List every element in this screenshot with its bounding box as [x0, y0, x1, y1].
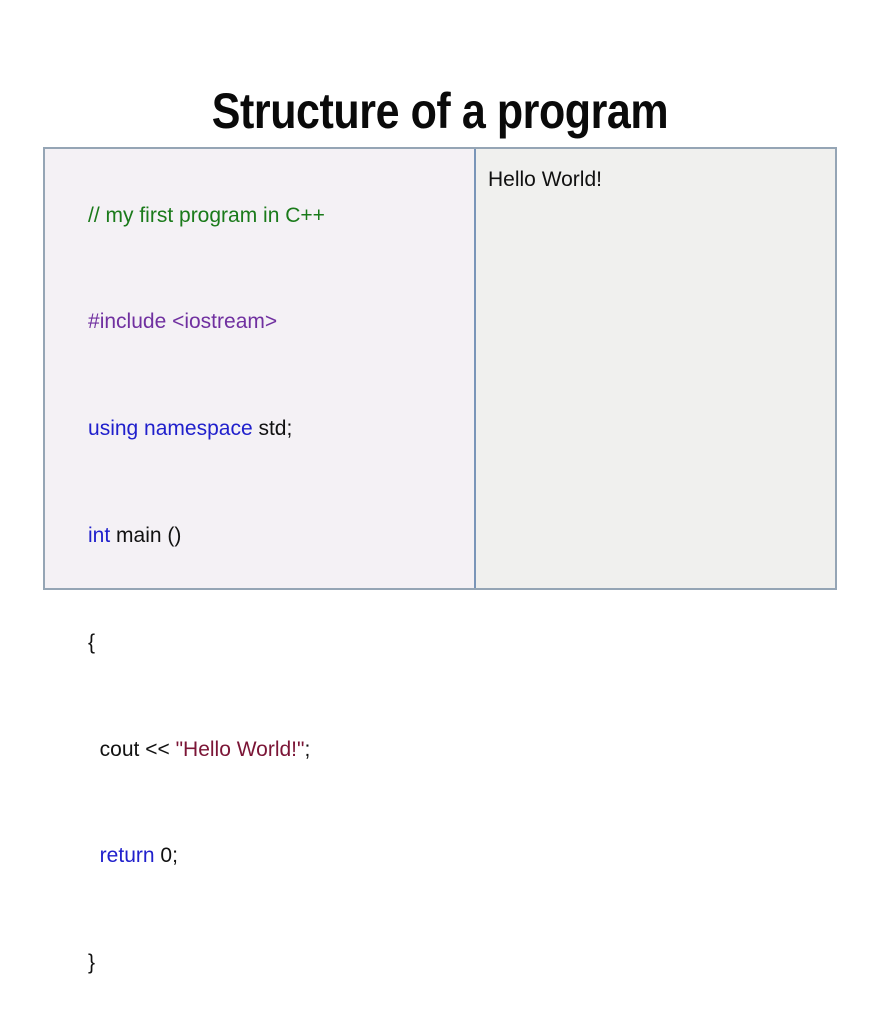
keyword-token: using namespace	[88, 417, 258, 440]
type-keyword-token: int	[88, 524, 116, 547]
output-line: Hello World!	[488, 162, 835, 198]
code-output-table: // my first program in C++ #include <ios…	[43, 147, 837, 590]
code-line-using: using namespace std;	[53, 376, 474, 483]
return-value-token: 0;	[160, 844, 178, 867]
function-name-token: main ()	[116, 524, 181, 547]
code-line-comment: // my first program in C++	[53, 162, 474, 269]
code-line-return: return 0;	[53, 803, 474, 910]
close-brace-token: }	[88, 951, 95, 974]
code-line-main: int main ()	[53, 482, 474, 589]
code-line-cout: cout << "Hello World!";	[53, 696, 474, 803]
page-title: Structure of a program	[62, 82, 819, 140]
code-line-open-brace: {	[53, 589, 474, 696]
string-literal-token: "Hello World!"	[176, 738, 305, 761]
cout-stream-token: cout <<	[88, 738, 176, 761]
output-panel: Hello World!	[476, 149, 835, 588]
comment-token: // my first program in C++	[88, 204, 325, 227]
code-panel: // my first program in C++ #include <ios…	[45, 149, 476, 588]
preprocessor-token: #include <iostream>	[88, 310, 277, 333]
open-brace-token: {	[88, 631, 95, 654]
return-keyword-token: return	[88, 844, 160, 867]
code-line-include: #include <iostream>	[53, 269, 474, 376]
identifier-token: std;	[258, 417, 292, 440]
semicolon-token: ;	[304, 738, 310, 761]
code-line-close-brace: }	[53, 909, 474, 1016]
